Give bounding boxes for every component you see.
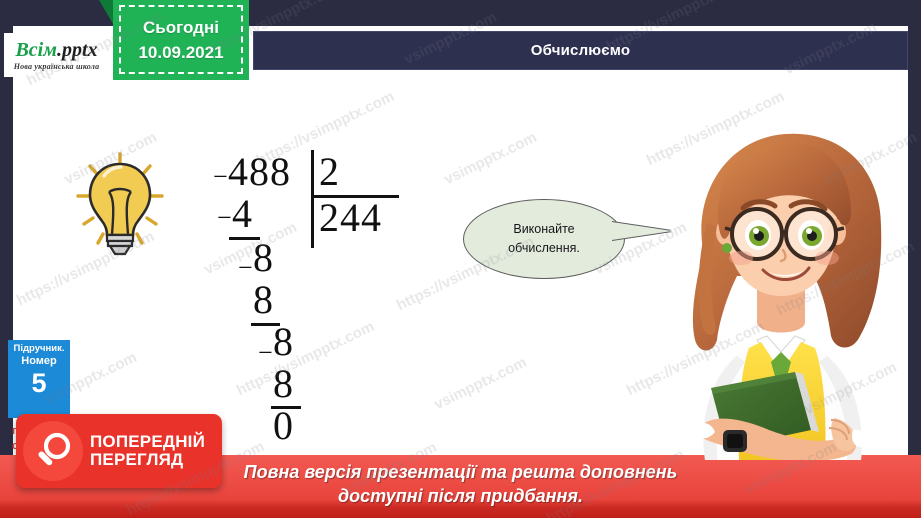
textbook-label: Підручник. [8, 344, 70, 355]
minus-sign-3: − [238, 255, 253, 281]
preview-watermark-line-2: ПЕРЕГЛЯД [90, 451, 205, 469]
speech-bubble-line-2: обчислення. [508, 239, 580, 258]
slide-canvas: Повна версія презентації та решта доповн… [0, 0, 921, 518]
dividend: 488 [228, 152, 291, 192]
textbook-sublabel: Номер [8, 355, 70, 368]
banner-line-2: доступні після придбання. [338, 484, 583, 508]
brand-logo: Всім.pptx Нова українська школа [4, 33, 109, 77]
divisor: 2 [319, 152, 340, 192]
textbook-number-box: Підручник. Номер 5 [8, 340, 70, 418]
brand-logo-title-first: Всім [15, 39, 56, 61]
slide-title-bar: Обчислюємо [253, 31, 908, 70]
quotient: 244 [319, 198, 382, 238]
preview-watermark-badge: ПОПЕРЕДНІЙ ПЕРЕГЛЯД [16, 414, 222, 488]
long-division-problem: − 488 2 244 − 4 8 − 8 8 − 8 0 [215, 150, 415, 430]
brand-logo-title: Всім.pptx [15, 40, 97, 60]
brand-logo-title-second: .pptx [57, 39, 98, 61]
date-badge-value: 10.09.2021 [138, 43, 223, 63]
preview-watermark-text: ПОПЕРЕДНІЙ ПЕРЕГЛЯД [90, 433, 205, 470]
division-step-4: 8 [273, 322, 294, 362]
magnifier-icon [23, 421, 83, 481]
date-badge: Сьогодні 10.09.2021 [113, 0, 249, 80]
preview-watermark-line-1: ПОПЕРЕДНІЙ [90, 433, 205, 451]
division-vertical-bar [311, 150, 314, 248]
division-step-2: 8 [253, 238, 274, 278]
speech-bubble-line-1: Виконайте [513, 220, 574, 239]
division-step-3: 8 [253, 280, 274, 320]
date-badge-label: Сьогодні [143, 18, 219, 38]
division-step-5: 8 [273, 364, 294, 404]
student-girl-illustration [645, 100, 920, 460]
division-step-1: 4 [232, 194, 253, 234]
minus-sign-2: − [217, 205, 232, 231]
minus-sign-1: − [213, 164, 228, 190]
banner-line-1: Повна версія презентації та решта доповн… [244, 460, 678, 484]
slide-title: Обчислюємо [531, 42, 631, 59]
textbook-number: 5 [8, 369, 70, 397]
minus-sign-4: − [258, 340, 273, 366]
speech-bubble-tail [612, 222, 672, 240]
speech-bubble: Виконайте обчислення. [463, 199, 625, 279]
lightbulb-icon [68, 148, 173, 258]
division-remainder: 0 [273, 406, 294, 446]
brand-logo-subtitle: Нова українська школа [14, 62, 100, 71]
